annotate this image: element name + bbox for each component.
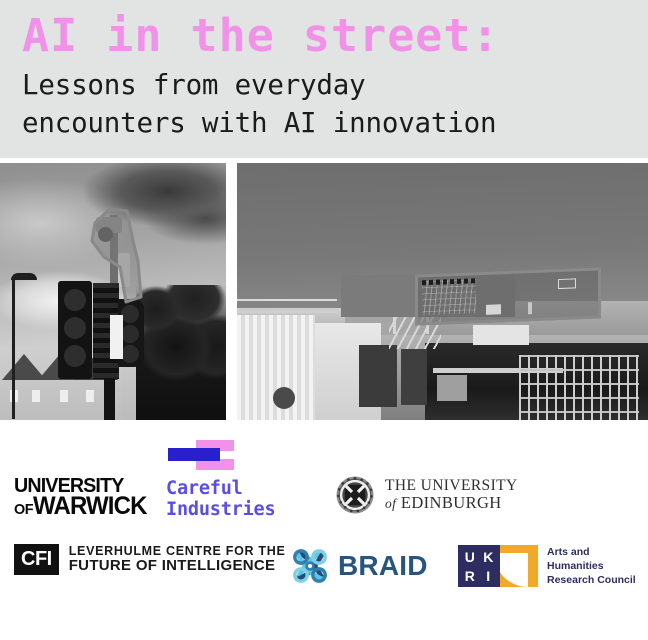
university-of-edinburgh-logo[interactable]: THE UNIVERSITY of EDINBURGH <box>336 476 518 514</box>
braid-wordmark: BRAID <box>338 550 428 582</box>
page-title: AI in the street: <box>22 8 628 64</box>
camera-highlight-annotation <box>0 163 226 420</box>
edinburgh-word: EDINBURGH <box>401 493 502 512</box>
cfi-wordmark: LEVERHULME CENTRE FOR THE FUTURE OF INTE… <box>69 544 286 575</box>
edinburgh-line1: THE UNIVERSITY <box>385 478 518 494</box>
ahrc-wordmark: Arts and Humanities Research Council <box>547 545 636 588</box>
ahrc-line1: Arts and <box>547 545 636 559</box>
partner-logos: UNIVERSITY OFWARWICK Careful Industries <box>0 420 648 640</box>
cfi-line1: LEVERHULME CENTRE FOR THE <box>69 544 286 558</box>
poster-header: AI in the street: Lessons from everyday … <box>0 0 648 158</box>
photo-strip <box>0 163 648 420</box>
careful-industries-wordmark: Careful Industries <box>166 478 275 520</box>
wall-panel <box>359 345 397 407</box>
ukri-letter-r: R <box>461 567 479 585</box>
edinburgh-line2: of EDINBURGH <box>385 494 518 511</box>
ukri-letter-u: U <box>461 548 479 566</box>
wall-panel <box>401 349 427 405</box>
wall-notice <box>473 325 529 345</box>
fence-icon <box>519 355 639 420</box>
university-of-warwick-logo[interactable]: UNIVERSITY OFWARWICK <box>14 476 152 518</box>
traffic-light-camera-photo <box>0 163 226 420</box>
careful-line2: Industries <box>166 499 275 520</box>
logo-row-1: UNIVERSITY OFWARWICK Careful Industries <box>0 434 648 520</box>
sign-tick-mark <box>528 302 532 314</box>
page-subtitle-line1: Lessons from everyday <box>22 69 365 101</box>
warwick-of: OF <box>14 501 33 518</box>
cfi-mark-icon: CFI <box>14 544 59 575</box>
sign-panel-block <box>486 304 501 315</box>
sign-panel-outline <box>558 278 576 289</box>
car-park-sign-photo <box>237 163 648 420</box>
warwick-word: WARWICK <box>33 492 147 520</box>
ukri-letter-i: I <box>480 567 498 585</box>
ahrc-line3: Research Council <box>547 573 636 587</box>
poster: AI in the street: Lessons from everyday … <box>0 0 648 640</box>
careful-industries-logo[interactable]: Careful Industries <box>166 440 275 520</box>
careful-industries-mark-icon <box>168 440 234 470</box>
crate <box>437 375 467 401</box>
edinburgh-wordmark: THE UNIVERSITY of EDINBURGH <box>385 478 518 512</box>
edinburgh-of: of <box>385 496 396 511</box>
braid-knot-icon <box>290 546 330 586</box>
ahrc-line2: Humanities <box>547 559 636 573</box>
satellite-dish-icon <box>273 387 295 409</box>
ukri-letter-k: K <box>480 548 498 566</box>
page-subtitle-line2: encounters with AI innovation <box>22 104 628 142</box>
edinburgh-crest-icon <box>336 476 374 514</box>
careful-line1: Careful <box>166 478 275 499</box>
mark-blue-bar <box>168 448 220 461</box>
cfi-line2: FUTURE OF INTELLIGENCE <box>69 558 286 575</box>
page-subtitle: Lessons from everyday encounters with AI… <box>22 66 628 142</box>
logo-row-2: CFI LEVERHULME CENTRE FOR THE FUTURE OF … <box>0 544 648 604</box>
braid-logo[interactable]: BRAID <box>290 546 428 586</box>
warwick-line2: OFWARWICK <box>14 495 147 518</box>
ukri-ahrc-logo[interactable]: U K R I Arts and Humanities Research Cou… <box>458 545 636 588</box>
ukri-mark-icon: U K R I <box>458 545 538 587</box>
ukri-letter-grid: U K R I <box>458 545 500 587</box>
cfi-logo[interactable]: CFI LEVERHULME CENTRE FOR THE FUTURE OF … <box>14 544 286 575</box>
digital-sign-highlight-annotation <box>415 267 601 325</box>
ukri-orange-shape <box>494 545 538 587</box>
